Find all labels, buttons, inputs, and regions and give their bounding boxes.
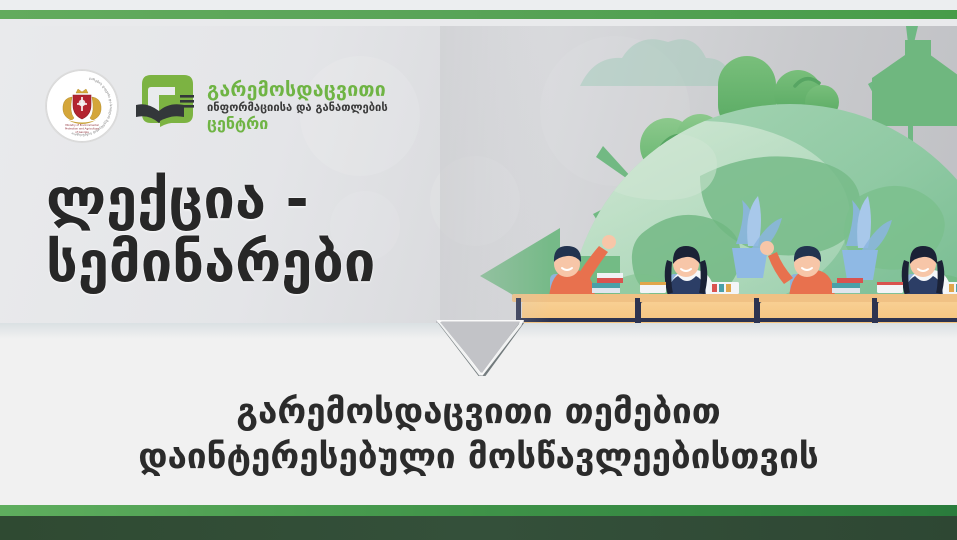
poster-canvas: გარემოს დაცვისა და სოფლის მეურნეობის სამ…: [0, 0, 957, 540]
svg-text:of Georgia: of Georgia: [75, 130, 89, 134]
georgia-ministry-emblem-icon: გარემოს დაცვისა და სოფლის მეურნეობის სამ…: [46, 70, 118, 142]
subtitle: გარემოსდაცვითი თემებით დაინტერესებული მო…: [0, 390, 957, 480]
eic-book-logo-icon: [136, 74, 198, 138]
hero-panel: გარემოს დაცვისა და სოფლის მეურნეობის სამ…: [0, 26, 957, 323]
logo-line-2: ინფორმაციისა და განათლების: [207, 102, 388, 113]
top-gap-strip: [0, 19, 957, 26]
eic-logo: გარემოსდაცვითი ინფორმაციისა და განათლები…: [136, 74, 388, 138]
chevron-down-notch: [436, 320, 524, 376]
svg-text:Ministry of Environmental: Ministry of Environmental: [65, 123, 99, 127]
svg-text:Protection and Agriculture: Protection and Agriculture: [65, 126, 99, 130]
house-icon: [872, 40, 957, 126]
page-title: ლექცია - სემინარები: [46, 169, 516, 294]
logo-line-3: ცენტრი: [207, 116, 388, 132]
top-white-strip: [0, 0, 957, 10]
cloud-icon: [580, 39, 732, 86]
bottom-green-accent-bar: [0, 505, 957, 516]
top-green-accent-bar: [0, 10, 957, 19]
brand-header: გარემოს დაცვისა და სოფლის მეურნეობის სამ…: [46, 70, 388, 142]
bottom-dark-green-bar: [0, 516, 957, 540]
logo-line-1: გარემოსდაცვითი: [207, 80, 388, 100]
